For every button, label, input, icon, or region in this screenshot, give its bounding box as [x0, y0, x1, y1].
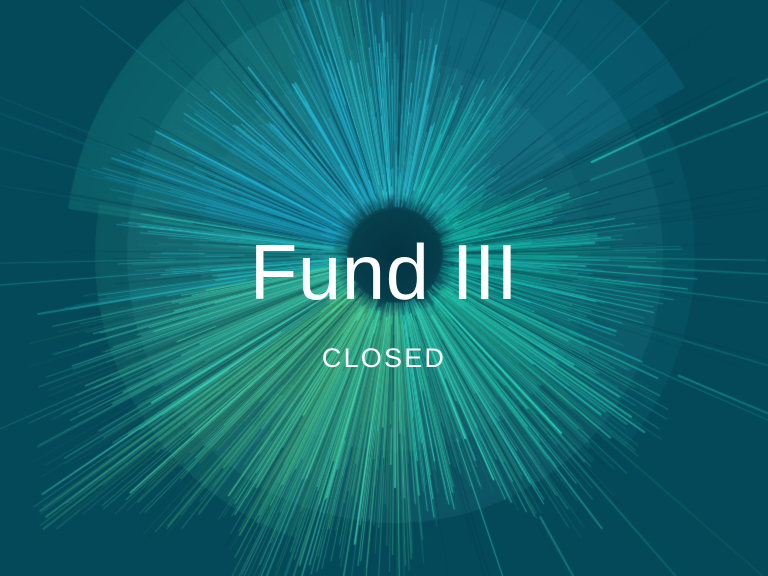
radial-sunburst-artwork — [0, 0, 768, 576]
fund-card: Fund III CLOSED — [0, 0, 768, 576]
